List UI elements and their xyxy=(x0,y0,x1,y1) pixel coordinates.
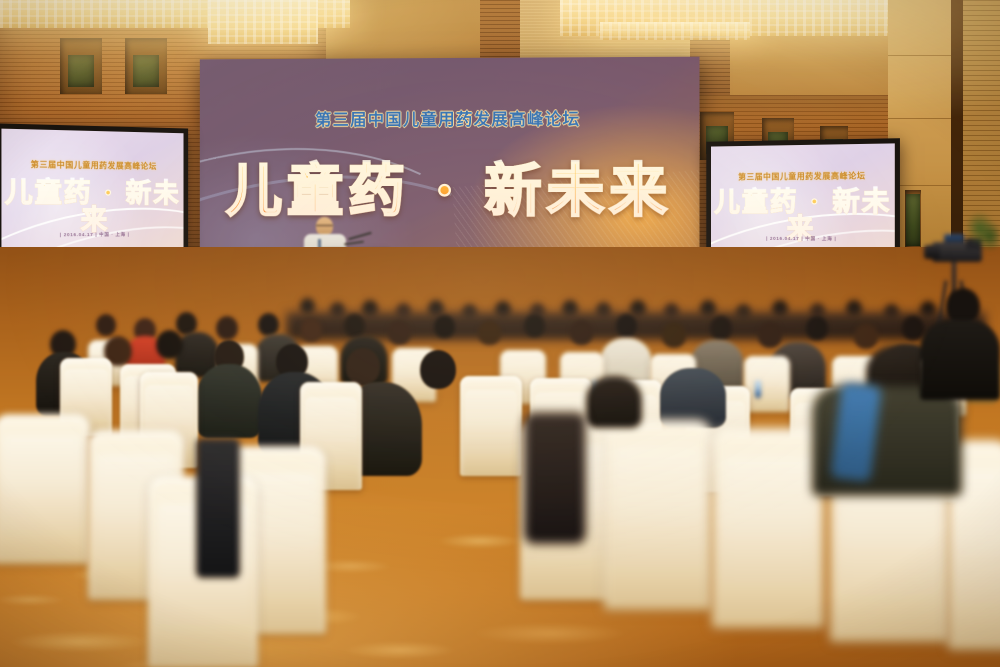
wall-niche-left-1 xyxy=(60,38,102,94)
niche-green-panel xyxy=(133,55,160,87)
wall-niche-far-right xyxy=(905,190,921,250)
banquet-chair-white-cover xyxy=(744,356,790,412)
speaker-glasses xyxy=(316,225,333,229)
screen-left-title: 第三届中国儿童用药发展高峰论坛 xyxy=(1,158,183,172)
wall-niche-left-2 xyxy=(125,38,167,94)
niche-green-panel xyxy=(68,55,95,87)
camera-operator-head xyxy=(946,288,980,324)
banquet-chair-white-cover xyxy=(460,376,522,476)
screen-right-title: 第三届中国儿童用药发展高峰论坛 xyxy=(711,170,895,183)
banquet-chair-white-cover xyxy=(604,420,712,610)
seated-attendee xyxy=(854,323,878,349)
seated-attendee xyxy=(196,364,262,438)
camera-lens xyxy=(924,245,940,259)
seated-attendee xyxy=(388,320,411,345)
seated-attendee xyxy=(344,314,365,337)
screen-right-date: | 2016.04.17 | 中国 · 上海 | xyxy=(711,236,895,243)
wall-lightbox-upper-right xyxy=(600,22,750,40)
banquet-chair-white-cover xyxy=(0,414,90,564)
podium-microphone-secondary xyxy=(344,241,364,246)
conference-hall-photo: 第三届中国儿童用药发展高峰论坛 儿童药 · 新未来 | 2016.04.17 |… xyxy=(0,0,1000,667)
seated-attendee xyxy=(300,318,322,342)
seated-attendee xyxy=(570,320,593,345)
wall-lightbox-upper-left xyxy=(208,0,318,44)
seated-attendee xyxy=(616,314,637,337)
seated-attendee xyxy=(420,350,456,389)
seated-attendee xyxy=(196,438,240,578)
backdrop-forum-title: 第三届中国儿童用药发展高峰论坛 xyxy=(200,105,700,130)
seated-attendee xyxy=(478,320,501,345)
seated-attendee xyxy=(662,322,686,348)
seated-attendee xyxy=(710,316,732,340)
screen-left-slogan: 儿童药 · 新未来 xyxy=(1,179,183,235)
seated-attendee xyxy=(902,316,924,340)
seated-attendee xyxy=(96,314,116,336)
niche-green-panel xyxy=(906,194,919,247)
seated-attendee xyxy=(586,376,642,428)
seated-attendee xyxy=(434,315,455,338)
potted-plant xyxy=(966,212,1000,252)
seated-attendee-blue-shirt xyxy=(660,368,726,428)
seated-attendee-striped-jacket xyxy=(524,412,586,544)
seated-attendee xyxy=(258,313,279,336)
seated-attendee xyxy=(806,316,828,340)
banquet-chair-white-cover xyxy=(712,428,824,628)
seated-attendee xyxy=(216,316,238,340)
water-bottle xyxy=(755,380,761,398)
camera-operator-body xyxy=(920,320,1000,400)
seated-attendee xyxy=(524,314,545,337)
backdrop-slogan: 儿童药 · 新未来 xyxy=(200,162,700,220)
podium-microphone xyxy=(348,232,372,241)
seated-attendee xyxy=(346,348,380,385)
seated-attendee xyxy=(156,330,183,359)
seated-attendee xyxy=(758,322,782,348)
